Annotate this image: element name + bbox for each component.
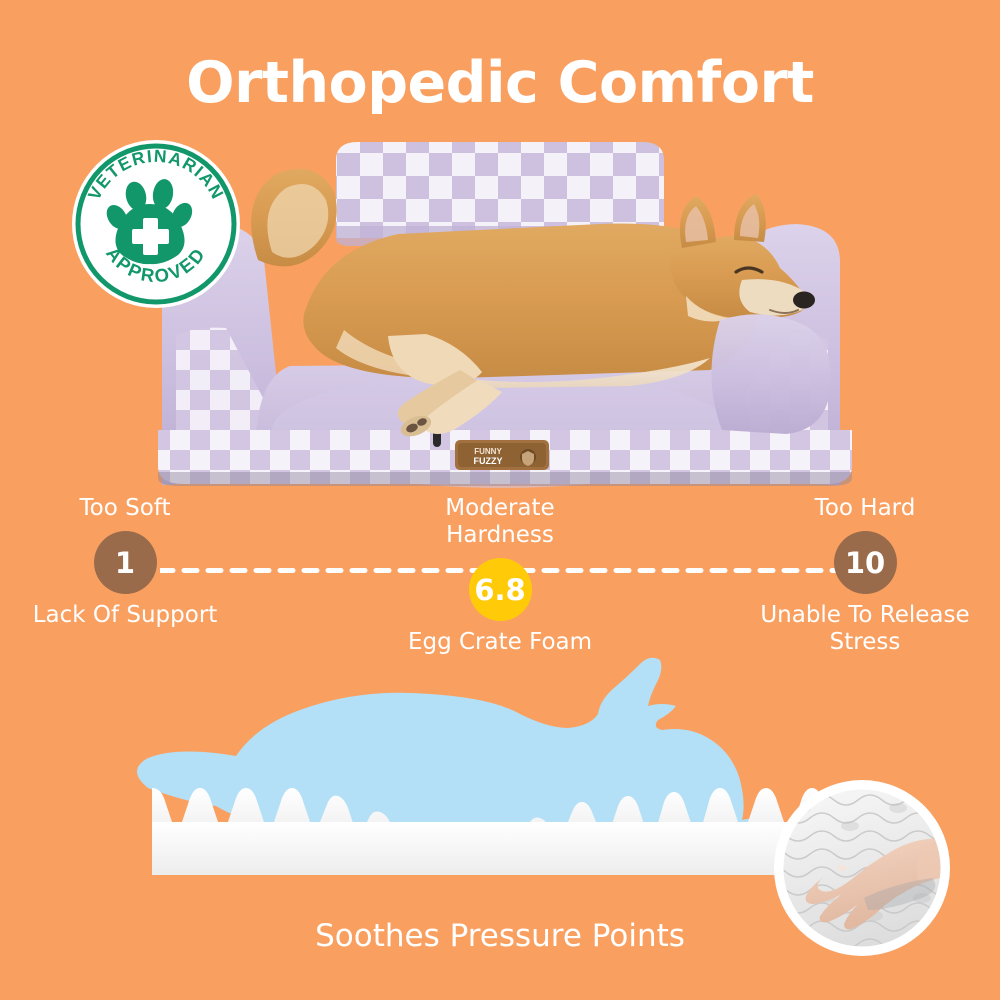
scale-bottom-label: Lack Of Support	[15, 602, 235, 629]
foam-closeup-photo	[772, 778, 952, 958]
bed-head-bolster	[711, 314, 831, 434]
infographic-root: Orthopedic Comfort	[0, 0, 1000, 1000]
photo-content	[772, 778, 952, 958]
brand-tag: FUNNY FUZZY	[455, 440, 549, 470]
scale-top-label: Too Hard	[755, 495, 975, 522]
dog-bed-illustration: FUNNY FUZZY	[130, 130, 880, 500]
scale-value-circle: 1	[94, 531, 157, 594]
hardness-scale: Too Soft 1 Lack Of Support Moderate Hard…	[0, 495, 1000, 660]
page-title: Orthopedic Comfort	[0, 50, 1000, 116]
product-photo: FUNNY FUZZY	[130, 130, 880, 500]
scale-value-circle: 10	[834, 531, 897, 594]
brand-tag-line2: FUZZY	[474, 456, 503, 466]
brand-tag-line1: FUNNY	[474, 447, 502, 456]
scale-value-circle: 6.8	[469, 558, 532, 621]
foam-base-slab	[152, 822, 852, 875]
scale-node-moderate-hardness: Moderate Hardness 6.8 Egg Crate Foam	[390, 495, 610, 656]
scale-node-too-hard: Too Hard 10 Unable To Release Stress	[755, 495, 975, 656]
scale-top-label: Too Soft	[15, 495, 235, 522]
veterinarian-approved-badge: VETERINARIAN APPROVED	[70, 138, 242, 310]
scale-top-label: Moderate Hardness	[390, 495, 610, 549]
scale-node-too-soft: Too Soft 1 Lack Of Support	[15, 495, 235, 629]
